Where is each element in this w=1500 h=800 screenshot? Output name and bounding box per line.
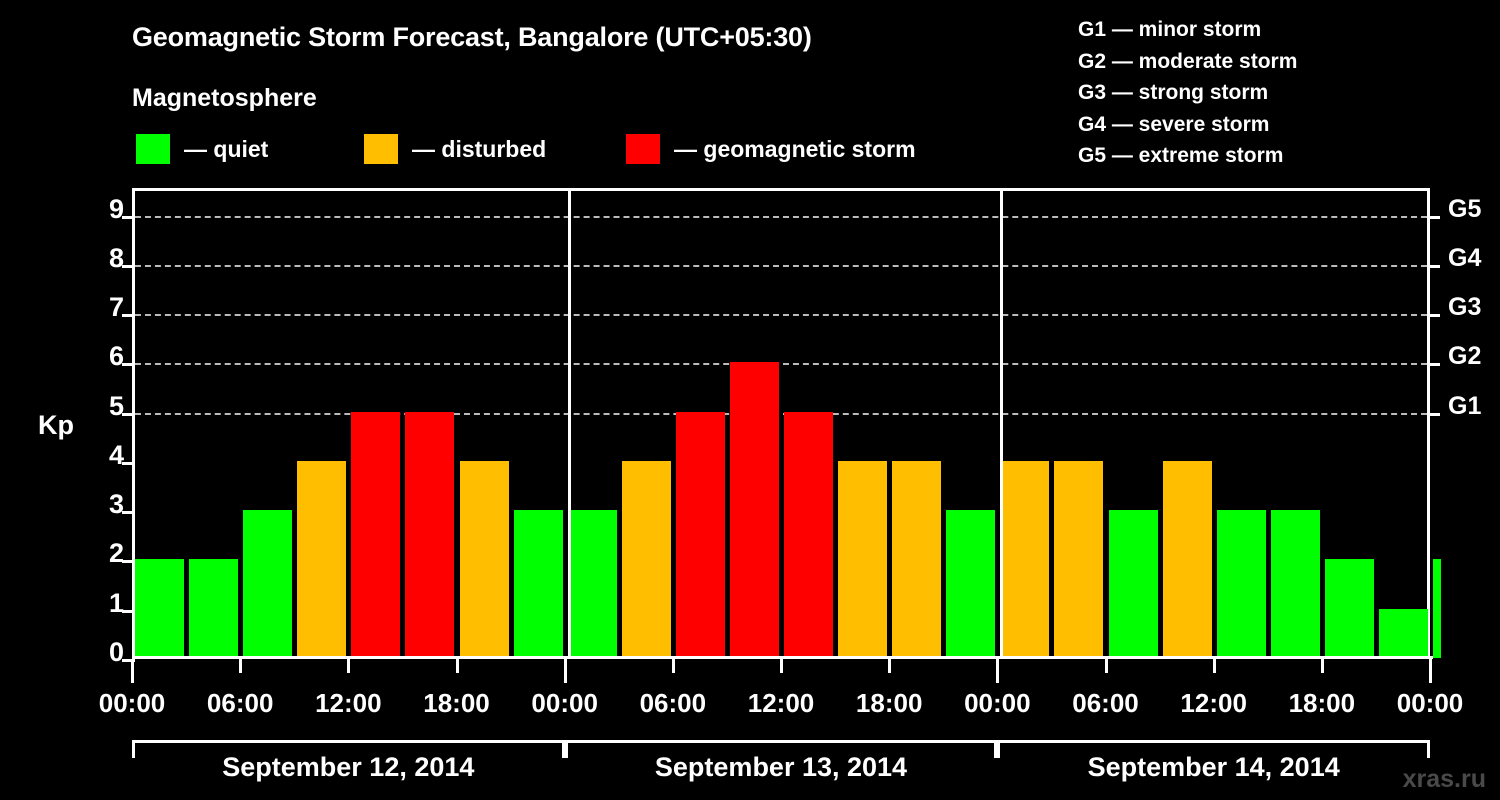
legend-swatch-geomagnetic-storm bbox=[626, 134, 660, 164]
y-axis-label-7: 7 bbox=[64, 292, 124, 323]
y-axis-label-3: 3 bbox=[64, 489, 124, 520]
bar-kp[interactable] bbox=[1433, 559, 1441, 658]
bar-kp[interactable] bbox=[946, 510, 995, 658]
legend-item-quiet[interactable]: — quiet bbox=[136, 133, 268, 165]
g-scale-row-3: G3 — strong storm bbox=[1078, 77, 1297, 109]
x-axis-label-7: 18:00 bbox=[856, 688, 923, 719]
y-axis-label-9: 9 bbox=[64, 194, 124, 225]
g-tick-G3 bbox=[1427, 314, 1440, 317]
legend-item-disturbed[interactable]: — disturbed bbox=[364, 133, 546, 165]
x-axis-label-11: 18:00 bbox=[1289, 688, 1356, 719]
legend-swatch-disturbed bbox=[364, 134, 398, 164]
day-separator-1 bbox=[568, 188, 571, 659]
chart-root: Geomagnetic Storm Forecast, Bangalore (U… bbox=[0, 0, 1500, 800]
x-axis-label-0: 00:00 bbox=[99, 688, 166, 719]
g-tick-G2 bbox=[1427, 363, 1440, 366]
bar-kp[interactable] bbox=[460, 461, 509, 658]
bar-kp[interactable] bbox=[784, 412, 833, 658]
bar-kp[interactable] bbox=[514, 510, 563, 658]
day-label-1: September 12, 2014 bbox=[132, 752, 565, 783]
x-axis-label-5: 06:00 bbox=[640, 688, 707, 719]
g-scale-row-4: G4 — severe storm bbox=[1078, 109, 1297, 141]
x-tick-10 bbox=[1213, 659, 1216, 673]
y-axis-label-6: 6 bbox=[64, 341, 124, 372]
g-axis-label-G2: G2 bbox=[1448, 342, 1481, 371]
bar-kp[interactable] bbox=[1325, 559, 1374, 658]
x-tick-7 bbox=[888, 659, 891, 673]
bar-kp[interactable] bbox=[135, 559, 184, 658]
bar-kp[interactable] bbox=[1163, 461, 1212, 658]
bar-kp[interactable] bbox=[189, 559, 238, 658]
g-axis-label-G3: G3 bbox=[1448, 293, 1481, 322]
x-axis-label-12: 00:00 bbox=[1397, 688, 1464, 719]
g-scale-row-2: G2 — moderate storm bbox=[1078, 46, 1297, 78]
bar-kp[interactable] bbox=[1271, 510, 1320, 658]
bar-kp[interactable] bbox=[568, 510, 617, 658]
day-label-3: September 14, 2014 bbox=[997, 752, 1430, 783]
watermark: xras.ru bbox=[1403, 765, 1486, 794]
x-axis-label-2: 12:00 bbox=[315, 688, 382, 719]
x-tick-12 bbox=[1429, 659, 1432, 683]
bar-kp[interactable] bbox=[1054, 461, 1103, 658]
g-tick-G1 bbox=[1427, 413, 1440, 416]
x-tick-6 bbox=[780, 659, 783, 673]
page-title: Geomagnetic Storm Forecast, Bangalore (U… bbox=[132, 22, 812, 53]
x-tick-2 bbox=[347, 659, 350, 673]
y-axis-label-2: 2 bbox=[64, 538, 124, 569]
g-axis-label-G5: G5 bbox=[1448, 195, 1481, 224]
bar-kp[interactable] bbox=[730, 362, 779, 658]
day-label-2: September 13, 2014 bbox=[565, 752, 998, 783]
x-axis-label-9: 06:00 bbox=[1072, 688, 1139, 719]
y-axis-label-0: 0 bbox=[64, 637, 124, 668]
x-axis-label-6: 12:00 bbox=[748, 688, 815, 719]
g-scale-legend: G1 — minor stormG2 — moderate stormG3 — … bbox=[1078, 14, 1297, 172]
g-tick-G4 bbox=[1427, 265, 1440, 268]
bar-kp[interactable] bbox=[1379, 609, 1428, 658]
legend-item-geomagnetic-storm[interactable]: — geomagnetic storm bbox=[626, 133, 916, 165]
g-tick-G5 bbox=[1427, 216, 1440, 219]
x-tick-11 bbox=[1321, 659, 1324, 673]
legend-label-quiet: — quiet bbox=[184, 136, 268, 163]
bar-kp[interactable] bbox=[405, 412, 454, 658]
bar-kp[interactable] bbox=[892, 461, 941, 658]
legend-swatch-quiet bbox=[136, 134, 170, 164]
bar-kp[interactable] bbox=[1217, 510, 1266, 658]
x-tick-5 bbox=[672, 659, 675, 673]
bar-kp[interactable] bbox=[243, 510, 292, 658]
day-separator-2 bbox=[1000, 188, 1003, 659]
x-tick-1 bbox=[239, 659, 242, 673]
g-axis-label-G4: G4 bbox=[1448, 244, 1481, 273]
y-axis-label-5: 5 bbox=[64, 391, 124, 422]
y-axis-label-1: 1 bbox=[64, 588, 124, 619]
x-tick-8 bbox=[996, 659, 999, 683]
bar-kp[interactable] bbox=[1000, 461, 1049, 658]
bar-series bbox=[135, 191, 1427, 658]
legend-label-disturbed: — disturbed bbox=[412, 136, 546, 163]
y-axis-label-4: 4 bbox=[64, 440, 124, 471]
x-tick-3 bbox=[456, 659, 459, 673]
bar-kp[interactable] bbox=[838, 461, 887, 658]
g-axis-label-G1: G1 bbox=[1448, 392, 1481, 421]
bar-kp[interactable] bbox=[351, 412, 400, 658]
x-tick-4 bbox=[564, 659, 567, 683]
x-axis-label-1: 06:00 bbox=[207, 688, 274, 719]
bar-kp[interactable] bbox=[1109, 510, 1158, 658]
bar-kp[interactable] bbox=[676, 412, 725, 658]
chart-subtitle: Magnetosphere bbox=[132, 84, 317, 113]
x-tick-9 bbox=[1105, 659, 1108, 673]
x-axis-label-10: 12:00 bbox=[1180, 688, 1247, 719]
x-tick-0 bbox=[131, 659, 134, 683]
x-axis-label-3: 18:00 bbox=[423, 688, 490, 719]
g-scale-row-1: G1 — minor storm bbox=[1078, 14, 1297, 46]
bar-kp[interactable] bbox=[297, 461, 346, 658]
x-axis-label-4: 00:00 bbox=[531, 688, 598, 719]
y-axis-label-8: 8 bbox=[64, 243, 124, 274]
plot-area bbox=[132, 188, 1430, 658]
g-scale-row-5: G5 — extreme storm bbox=[1078, 140, 1297, 172]
legend-label-geomagnetic-storm: — geomagnetic storm bbox=[674, 136, 916, 163]
bar-kp[interactable] bbox=[622, 461, 671, 658]
x-axis-label-8: 00:00 bbox=[964, 688, 1031, 719]
